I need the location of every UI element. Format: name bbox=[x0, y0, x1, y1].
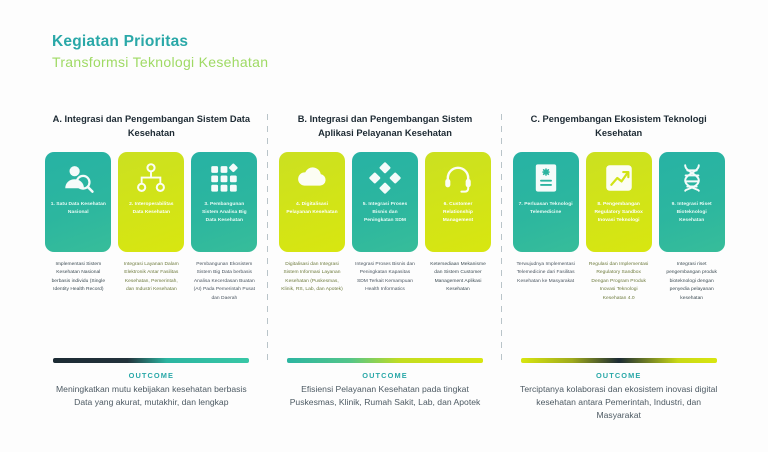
medical-document-icon bbox=[529, 161, 563, 195]
column-c: C. Pengembangan Ekosistem Teknologi Kese… bbox=[507, 112, 730, 303]
column-c-heading: C. Pengembangan Ekosistem Teknologi Kese… bbox=[507, 112, 730, 146]
card-1[interactable]: 1. Satu Data Kesehatan Nasional bbox=[45, 152, 111, 252]
column-divider-ab bbox=[263, 114, 274, 366]
outcome-a-text: Meningkatkan mutu kebijakan kesehatan be… bbox=[40, 383, 263, 410]
dna-helix-icon bbox=[675, 161, 709, 195]
column-b-cards: 4. Digitalisasi Pelayanan Kesehatan 5. I… bbox=[279, 152, 491, 252]
outcome-c-label: OUTCOME bbox=[596, 371, 641, 380]
column-a-descriptions: Implementasi Sistem Kesehatan Nasional b… bbox=[45, 261, 257, 303]
outcomes-container: OUTCOME Meningkatkan mutu kebijakan kese… bbox=[40, 358, 730, 422]
card-4-label: 4. Digitalisasi Pelayanan Kesehatan bbox=[279, 201, 345, 217]
card-9-description: Integrasi riset pengembangan produk biot… bbox=[659, 261, 725, 303]
card-3[interactable]: 3. Pembangunan Sistem Analisa Big Data K… bbox=[191, 152, 257, 252]
card-2-description: Integrasi Layanan Dalam Elektronik Antar… bbox=[118, 261, 184, 303]
card-4-description: Digitalisasi dan Integrasi Sistem Inform… bbox=[279, 261, 345, 295]
card-2-label: 2. Interoperabilitas Data Kesehatan bbox=[118, 201, 184, 217]
outcome-b-bar bbox=[287, 358, 483, 363]
outcome-b-text: Efisiensi Pelayanan Kesehatan pada tingk… bbox=[274, 383, 497, 410]
outcome-c-bar bbox=[521, 358, 717, 363]
outcome-a-label: OUTCOME bbox=[129, 371, 174, 380]
card-8-description: Regulasi dan Implementasi Regulatory San… bbox=[586, 261, 652, 303]
outcome-b: OUTCOME Efisiensi Pelayanan Kesehatan pa… bbox=[274, 358, 497, 422]
column-a: A. Integrasi dan Pengembangan Sistem Dat… bbox=[40, 112, 263, 303]
card-8[interactable]: 8. Pengembangan Regulatory Sandbox Inova… bbox=[586, 152, 652, 252]
card-7-label: 7. Perluasan Teknologi Telemedicine bbox=[513, 201, 579, 217]
outcome-a: OUTCOME Meningkatkan mutu kebijakan kese… bbox=[40, 358, 263, 422]
card-9[interactable]: 9. Integrasi Riset Bioteknologi Kesehata… bbox=[659, 152, 725, 252]
column-c-cards: 7. Perluasan Teknologi Telemedicine 8. P… bbox=[513, 152, 725, 252]
card-7[interactable]: 7. Perluasan Teknologi Telemedicine bbox=[513, 152, 579, 252]
outcome-c: OUTCOME Terciptanya kolaborasi dan ekosi… bbox=[507, 358, 730, 422]
headset-support-icon bbox=[441, 161, 475, 195]
card-9-label: 9. Integrasi Riset Bioteknologi Kesehata… bbox=[659, 201, 725, 225]
card-6[interactable]: 6. Customer Relationship Management bbox=[425, 152, 491, 252]
column-a-cards: 1. Satu Data Kesehatan Nasional 2. Inter… bbox=[45, 152, 257, 252]
outcome-a-bar bbox=[53, 358, 249, 363]
column-divider-bc bbox=[496, 114, 507, 366]
card-5-description: Integrasi Proses Bisnis dan Peningkatan … bbox=[352, 261, 418, 295]
card-2[interactable]: 2. Interoperabilitas Data Kesehatan bbox=[118, 152, 184, 252]
card-3-description: Pembangunan Ekosistem Sistem Big Data be… bbox=[191, 261, 257, 303]
outcome-gap-ab bbox=[263, 358, 274, 422]
card-4[interactable]: 4. Digitalisasi Pelayanan Kesehatan bbox=[279, 152, 345, 252]
card-1-label: 1. Satu Data Kesehatan Nasional bbox=[45, 201, 111, 217]
card-8-label: 8. Pengembangan Regulatory Sandbox Inova… bbox=[586, 201, 652, 225]
column-a-heading: A. Integrasi dan Pengembangan Sistem Dat… bbox=[40, 112, 263, 146]
header: Kegiatan Prioritas Transformsi Teknologi… bbox=[52, 32, 268, 72]
card-1-description: Implementasi Sistem Kesehatan Nasional b… bbox=[45, 261, 111, 303]
card-3-label: 3. Pembangunan Sistem Analisa Big Data K… bbox=[191, 201, 257, 225]
column-b: B. Integrasi dan Pengembangan Sistem Apl… bbox=[274, 112, 497, 295]
outcome-gap-bc bbox=[496, 358, 507, 422]
outcome-c-text: Terciptanya kolaborasi dan ekosistem ino… bbox=[507, 383, 730, 423]
card-7-description: Terwujudnya Implementasi Telemedicine da… bbox=[513, 261, 579, 303]
page-title: Kegiatan Prioritas bbox=[52, 32, 268, 51]
diamond-grid-icon bbox=[368, 161, 402, 195]
cloud-icon bbox=[295, 161, 329, 195]
card-6-description: Ketersediaan Mekanisme dan Sistem Custom… bbox=[425, 261, 491, 295]
card-5-label: 5. Integrasi Proses Bisnis dan Peningkat… bbox=[352, 201, 418, 225]
network-share-icon bbox=[134, 161, 168, 195]
chart-growth-icon bbox=[602, 161, 636, 195]
page-subtitle: Transformsi Teknologi Kesehatan bbox=[52, 53, 268, 71]
card-6-label: 6. Customer Relationship Management bbox=[425, 201, 491, 225]
dashboard-grid-icon bbox=[207, 161, 241, 195]
card-5[interactable]: 5. Integrasi Proses Bisnis dan Peningkat… bbox=[352, 152, 418, 252]
column-b-descriptions: Digitalisasi dan Integrasi Sistem Inform… bbox=[279, 261, 491, 295]
outcome-b-label: OUTCOME bbox=[362, 371, 407, 380]
column-c-descriptions: Terwujudnya Implementasi Telemedicine da… bbox=[513, 261, 725, 303]
infographic-page: Kegiatan Prioritas Transformsi Teknologi… bbox=[0, 0, 768, 452]
user-search-icon bbox=[61, 161, 95, 195]
column-b-heading: B. Integrasi dan Pengembangan Sistem Apl… bbox=[274, 112, 497, 146]
